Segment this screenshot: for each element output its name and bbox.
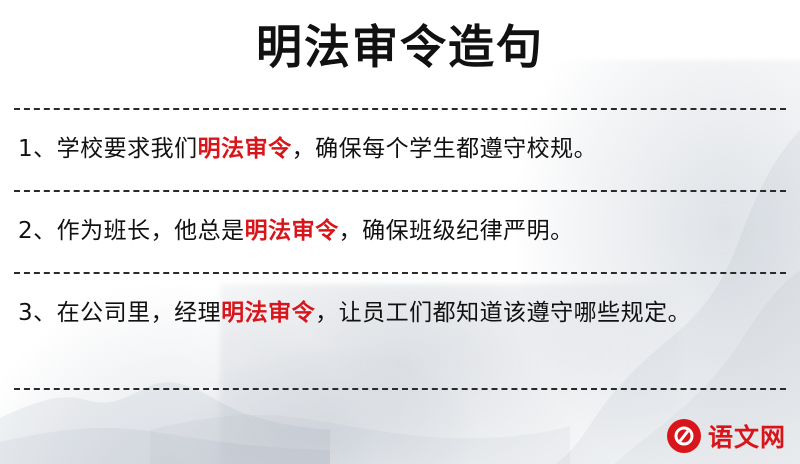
sentence-text-after-1: ，确保每个学生都遵守校规。 (292, 136, 598, 162)
sentence-text-before-3: 在公司里，经理 (57, 300, 222, 326)
sentence-text-before-2: 作为班长，他总是 (57, 218, 245, 244)
mountain-silhouette-center (150, 360, 570, 464)
ink-wash-bottom-center (180, 344, 480, 464)
site-watermark: 语文网 (667, 418, 786, 454)
sentence-number-2: 2、 (18, 218, 57, 244)
sentence-text-after-2: ，确保班级纪律严明。 (339, 218, 574, 244)
separator-4 (14, 388, 786, 390)
sentence-item-1: 1、学校要求我们明法审令，确保每个学生都遵守校规。 (18, 130, 782, 168)
document-page: 明法审令造句 1、学校要求我们明法审令，确保每个学生都遵守校规。 2、作为班长，… (0, 0, 800, 464)
keyword-highlight-3: 明法审令 (221, 300, 315, 326)
watermark-text: 语文网 (708, 418, 786, 454)
separator-2 (14, 190, 786, 192)
sentence-number-1: 1、 (18, 136, 57, 162)
sentence-number-3: 3、 (18, 300, 57, 326)
ink-wash-right (520, 60, 800, 464)
sentence-item-2: 2、作为班长，他总是明法审令，确保班级纪律严明。 (18, 212, 782, 250)
sentence-item-3: 3、在公司里，经理明法审令，让员工们都知道该遵守哪些规定。 (18, 294, 782, 332)
mountain-silhouette-right (500, 120, 800, 464)
keyword-highlight-2: 明法审令 (245, 218, 339, 244)
yuwen-circle-logo-icon (667, 419, 701, 453)
page-title: 明法审令造句 (0, 22, 800, 73)
sentence-text-before-1: 学校要求我们 (57, 136, 198, 162)
separator-3 (14, 272, 786, 274)
keyword-highlight-1: 明法审令 (198, 136, 292, 162)
sentence-text-after-3: ，让员工们都知道该遵守哪些规定。 (315, 300, 691, 326)
separator-1 (14, 108, 786, 110)
